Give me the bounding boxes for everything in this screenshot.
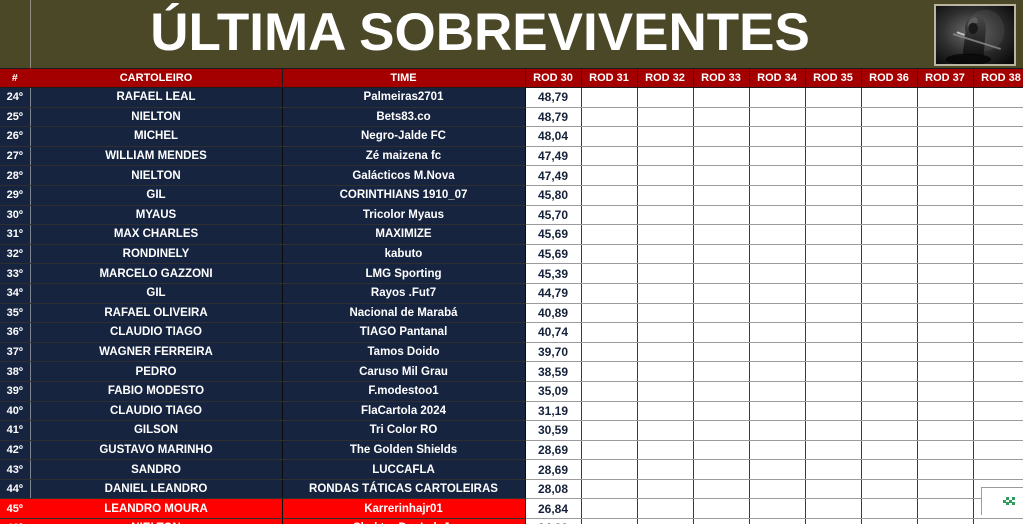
- cell-rod-35[interactable]: [805, 479, 861, 499]
- cell-rod-32[interactable]: [637, 401, 693, 421]
- cell-cartoleiro: CLAUDIO TIAGO: [30, 401, 282, 421]
- table-row[interactable]: 39ºFABIO MODESTOF.modestoo135,09: [0, 381, 1023, 401]
- cell-rod-34[interactable]: [749, 519, 805, 524]
- column-header-rod-37[interactable]: ROD 37: [917, 69, 973, 88]
- cell-rod-33[interactable]: [693, 401, 749, 421]
- resize-grip-icon: [1003, 497, 1015, 505]
- cell-rod-30[interactable]: 31,19: [525, 401, 581, 421]
- cell-rod-31[interactable]: [581, 185, 637, 205]
- cell-rod-33[interactable]: [693, 499, 749, 519]
- cell-rod-36[interactable]: [861, 499, 917, 519]
- column-header-rod-32[interactable]: ROD 32: [637, 69, 693, 88]
- cell-cartoleiro: GIL: [30, 283, 282, 303]
- cell-rod-35[interactable]: [805, 499, 861, 519]
- cell-rod-33[interactable]: [693, 519, 749, 524]
- cell-rod-31[interactable]: [581, 264, 637, 284]
- cell-rod-34[interactable]: [749, 146, 805, 166]
- cell-rod-30[interactable]: 47,49: [525, 166, 581, 186]
- cell-time: FlaCartola 2024: [282, 401, 525, 421]
- column-header-rod-34[interactable]: ROD 34: [749, 69, 805, 88]
- cell-rod-31[interactable]: [581, 225, 637, 245]
- cell-rank: 28º: [0, 166, 30, 186]
- table-row[interactable]: 32ºRONDINELYkabuto45,69: [0, 244, 1023, 264]
- cell-rod-37[interactable]: [917, 421, 973, 441]
- table-row[interactable]: 42ºGUSTAVO MARINHOThe Golden Shields28,6…: [0, 440, 1023, 460]
- cell-rod-35[interactable]: [805, 421, 861, 441]
- cell-cartoleiro: RAFAEL OLIVEIRA: [30, 303, 282, 323]
- cell-rod-30[interactable]: 30,59: [525, 421, 581, 441]
- cell-rod-34[interactable]: [749, 342, 805, 362]
- cell-rod-35[interactable]: [805, 205, 861, 225]
- column-header-rod-33[interactable]: ROD 33: [693, 69, 749, 88]
- cell-rod-35[interactable]: [805, 519, 861, 524]
- cell-rod-30[interactable]: 45,69: [525, 225, 581, 245]
- cell-rod-34[interactable]: [749, 166, 805, 186]
- cell-time: Tamos Doido: [282, 342, 525, 362]
- table-row[interactable]: 26ºMICHELNegro-Jalde FC48,04: [0, 127, 1023, 147]
- cell-rank: 24º: [0, 88, 30, 108]
- cell-rod-38[interactable]: [973, 205, 1023, 225]
- cell-rod-31[interactable]: [581, 146, 637, 166]
- cell-rod-36[interactable]: [861, 244, 917, 264]
- cell-rod-32[interactable]: [637, 519, 693, 524]
- cell-rod-37[interactable]: [917, 440, 973, 460]
- cell-rod-36[interactable]: [861, 479, 917, 499]
- cell-rod-36[interactable]: [861, 107, 917, 127]
- cell-rod-32[interactable]: [637, 166, 693, 186]
- cell-rod-35[interactable]: [805, 323, 861, 343]
- cell-rod-35[interactable]: [805, 283, 861, 303]
- cell-rod-38[interactable]: [973, 323, 1023, 343]
- cell-rank: 39º: [0, 381, 30, 401]
- cell-rod-31[interactable]: [581, 519, 637, 524]
- cell-rod-34[interactable]: [749, 381, 805, 401]
- cell-rod-34[interactable]: [749, 323, 805, 343]
- column-header-rod-35[interactable]: ROD 35: [805, 69, 861, 88]
- cell-rod-35[interactable]: [805, 146, 861, 166]
- cell-rank: 43º: [0, 460, 30, 480]
- cell-rod-37[interactable]: [917, 362, 973, 382]
- cell-rod-37[interactable]: [917, 342, 973, 362]
- cell-rod-30[interactable]: 45,70: [525, 205, 581, 225]
- cell-rank: 42º: [0, 440, 30, 460]
- cell-cartoleiro: RONDINELY: [30, 244, 282, 264]
- cell-rod-36[interactable]: [861, 519, 917, 524]
- cell-cartoleiro: WAGNER FERREIRA: [30, 342, 282, 362]
- table-row[interactable]: 40ºCLAUDIO TIAGOFlaCartola 202431,19: [0, 401, 1023, 421]
- cell-rod-35[interactable]: [805, 185, 861, 205]
- cell-rod-38[interactable]: [973, 225, 1023, 245]
- cell-cartoleiro: SANDRO: [30, 460, 282, 480]
- cell-rod-30[interactable]: 38,59: [525, 362, 581, 382]
- cell-rod-32[interactable]: [637, 88, 693, 108]
- cell-rod-31[interactable]: [581, 303, 637, 323]
- cell-rod-37[interactable]: [917, 107, 973, 127]
- cell-rod-30[interactable]: 45,69: [525, 244, 581, 264]
- cell-rod-38[interactable]: [973, 303, 1023, 323]
- table-row[interactable]: 27ºWILLIAM MENDESZé maizena fc47,49: [0, 146, 1023, 166]
- cell-rod-32[interactable]: [637, 460, 693, 480]
- cell-time: Nacional de Marabá: [282, 303, 525, 323]
- cell-rod-35[interactable]: [805, 127, 861, 147]
- cell-rod-32[interactable]: [637, 205, 693, 225]
- cell-rod-37[interactable]: [917, 166, 973, 186]
- cell-rod-36[interactable]: [861, 205, 917, 225]
- cell-rod-36[interactable]: [861, 166, 917, 186]
- cell-time: MAXIMIZE: [282, 225, 525, 245]
- table-row[interactable]: 37ºWAGNER FERREIRATamos Doido39,70: [0, 342, 1023, 362]
- cell-rod-36[interactable]: [861, 381, 917, 401]
- cell-rod-36[interactable]: [861, 225, 917, 245]
- cell-rod-34[interactable]: [749, 499, 805, 519]
- cell-time: Rayos .Fut7: [282, 283, 525, 303]
- cell-rod-35[interactable]: [805, 303, 861, 323]
- table-row[interactable]: 41ºGILSONTri Color RO30,59: [0, 421, 1023, 441]
- cell-rod-32[interactable]: [637, 146, 693, 166]
- cell-rod-31[interactable]: [581, 205, 637, 225]
- cell-rod-33[interactable]: [693, 460, 749, 480]
- cell-rod-37[interactable]: [917, 205, 973, 225]
- page-title: ÚLTIMA SOBREVIVENTES: [30, 0, 930, 68]
- table-row[interactable]: 38ºPEDROCaruso Mil Grau38,59: [0, 362, 1023, 382]
- cell-rod-31[interactable]: [581, 323, 637, 343]
- cell-rod-36[interactable]: [861, 460, 917, 480]
- cell-rod-36[interactable]: [861, 342, 917, 362]
- cell-rod-33[interactable]: [693, 146, 749, 166]
- cell-rod-30[interactable]: 48,79: [525, 88, 581, 108]
- cell-time: F.modestoo1: [282, 381, 525, 401]
- cell-rank: 26º: [0, 127, 30, 147]
- cell-rod-38[interactable]: [973, 519, 1023, 524]
- cell-rod-32[interactable]: [637, 421, 693, 441]
- cell-rank: 33º: [0, 264, 30, 284]
- table-row[interactable]: 31ºMAX CHARLESMAXIMIZE45,69: [0, 225, 1023, 245]
- cell-rod-37[interactable]: [917, 381, 973, 401]
- cell-rod-38[interactable]: [973, 362, 1023, 382]
- cell-rod-38[interactable]: [973, 440, 1023, 460]
- table-row[interactable]: 29ºGILCORINTHIANS 1910_0745,80: [0, 185, 1023, 205]
- cell-rod-34[interactable]: [749, 440, 805, 460]
- cell-rod-30[interactable]: 40,74: [525, 323, 581, 343]
- cell-rod-37[interactable]: [917, 185, 973, 205]
- cell-rod-37[interactable]: [917, 88, 973, 108]
- cell-rod-38[interactable]: [973, 127, 1023, 147]
- cell-rod-37[interactable]: [917, 225, 973, 245]
- column-header-team[interactable]: TIME: [282, 69, 525, 88]
- cell-rod-30[interactable]: 48,04: [525, 127, 581, 147]
- cell-rod-34[interactable]: [749, 421, 805, 441]
- cell-rod-37[interactable]: [917, 460, 973, 480]
- table-row[interactable]: 43ºSANDROLUCCAFLA28,69: [0, 460, 1023, 480]
- cell-rod-30[interactable]: 39,70: [525, 342, 581, 362]
- cell-time: Shaktar DusLek Jr: [282, 519, 525, 524]
- cell-rod-38[interactable]: [973, 283, 1023, 303]
- cell-rod-37[interactable]: [917, 479, 973, 499]
- cell-rod-30[interactable]: 48,79: [525, 107, 581, 127]
- cell-rod-37[interactable]: [917, 323, 973, 343]
- cell-rod-35[interactable]: [805, 362, 861, 382]
- cell-cartoleiro: LEANDRO MOURA: [30, 499, 282, 519]
- cell-rod-37[interactable]: [917, 283, 973, 303]
- cell-rod-32[interactable]: [637, 342, 693, 362]
- cell-rod-34[interactable]: [749, 362, 805, 382]
- cell-rod-31[interactable]: [581, 166, 637, 186]
- cell-time: RONDAS TÁTICAS CARTOLEIRAS: [282, 479, 525, 499]
- cell-rod-33[interactable]: [693, 381, 749, 401]
- cell-rank: 38º: [0, 362, 30, 382]
- cell-rod-36[interactable]: [861, 421, 917, 441]
- cell-rod-38[interactable]: [973, 185, 1023, 205]
- cell-rod-30[interactable]: 35,09: [525, 381, 581, 401]
- column-header-name[interactable]: CARTOLEIRO: [30, 69, 282, 88]
- cell-rod-32[interactable]: [637, 264, 693, 284]
- column-header-rod-31[interactable]: ROD 31: [581, 69, 637, 88]
- cell-rank: 44º: [0, 479, 30, 499]
- cell-rod-33[interactable]: [693, 205, 749, 225]
- ranking-table: # CARTOLEIRO TIME ROD 30 ROD 31 ROD 32 R…: [0, 68, 1023, 524]
- cell-rod-37[interactable]: [917, 264, 973, 284]
- cell-rod-32[interactable]: [637, 381, 693, 401]
- cell-rod-38[interactable]: [973, 107, 1023, 127]
- cell-cartoleiro: DANIEL LEANDRO: [30, 479, 282, 499]
- cell-rod-33[interactable]: [693, 264, 749, 284]
- cell-rod-34[interactable]: [749, 107, 805, 127]
- cell-rank: 46º: [0, 519, 30, 524]
- cell-rod-30[interactable]: 28,69: [525, 460, 581, 480]
- table-body: 24ºRAFAEL LEALPalmeiras270148,7925ºNIELT…: [0, 88, 1023, 524]
- cell-rod-36[interactable]: [861, 440, 917, 460]
- cell-rod-38[interactable]: [973, 264, 1023, 284]
- cell-rod-31[interactable]: [581, 107, 637, 127]
- cell-time: Tri Color RO: [282, 421, 525, 441]
- cell-time: kabuto: [282, 244, 525, 264]
- cell-rod-35[interactable]: [805, 460, 861, 480]
- cell-rod-38[interactable]: [973, 460, 1023, 480]
- cell-rod-33[interactable]: [693, 362, 749, 382]
- cell-rod-38[interactable]: [973, 401, 1023, 421]
- cell-time: Bets83.co: [282, 107, 525, 127]
- cell-rod-34[interactable]: [749, 185, 805, 205]
- cell-rod-31[interactable]: [581, 362, 637, 382]
- cell-cartoleiro: MAX CHARLES: [30, 225, 282, 245]
- cell-rod-36[interactable]: [861, 264, 917, 284]
- cell-rod-31[interactable]: [581, 283, 637, 303]
- cell-rod-35[interactable]: [805, 440, 861, 460]
- cell-rod-32[interactable]: [637, 323, 693, 343]
- table-row[interactable]: 45ºLEANDRO MOURAKarrerinhajr0126,84: [0, 499, 1023, 519]
- cell-rod-33[interactable]: [693, 127, 749, 147]
- cell-rod-31[interactable]: [581, 342, 637, 362]
- cell-rod-31[interactable]: [581, 244, 637, 264]
- cell-time: LUCCAFLA: [282, 460, 525, 480]
- cell-rod-33[interactable]: [693, 107, 749, 127]
- table-row[interactable]: 24ºRAFAEL LEALPalmeiras270148,79: [0, 88, 1023, 108]
- cell-rod-32[interactable]: [637, 440, 693, 460]
- cell-rod-35[interactable]: [805, 244, 861, 264]
- table-row[interactable]: 35ºRAFAEL OLIVEIRANacional de Marabá40,8…: [0, 303, 1023, 323]
- cell-rod-38[interactable]: [973, 421, 1023, 441]
- cell-time: Tricolor Myaus: [282, 205, 525, 225]
- table-row[interactable]: 33ºMARCELO GAZZONILMG Sporting45,39: [0, 264, 1023, 284]
- table-row[interactable]: 28ºNIELTONGalácticos M.Nova47,49: [0, 166, 1023, 186]
- cell-rod-34[interactable]: [749, 205, 805, 225]
- cell-rod-38[interactable]: [973, 146, 1023, 166]
- cell-rod-38[interactable]: [973, 166, 1023, 186]
- cell-rod-30[interactable]: 24,89: [525, 519, 581, 524]
- cell-time: LMG Sporting: [282, 264, 525, 284]
- cell-rod-38[interactable]: [973, 88, 1023, 108]
- cell-cartoleiro: NIELTON: [30, 107, 282, 127]
- column-header-rod-36[interactable]: ROD 36: [861, 69, 917, 88]
- cell-rod-34[interactable]: [749, 88, 805, 108]
- cell-rod-31[interactable]: [581, 499, 637, 519]
- cell-cartoleiro: CLAUDIO TIAGO: [30, 323, 282, 343]
- cell-rod-30[interactable]: 26,84: [525, 499, 581, 519]
- cell-rod-35[interactable]: [805, 381, 861, 401]
- column-header-rod-38[interactable]: ROD 38: [973, 69, 1023, 88]
- cell-rod-36[interactable]: [861, 185, 917, 205]
- cell-rod-30[interactable]: 28,69: [525, 440, 581, 460]
- cell-rod-33[interactable]: [693, 479, 749, 499]
- cell-rod-37[interactable]: [917, 146, 973, 166]
- cell-rod-31[interactable]: [581, 381, 637, 401]
- cell-cartoleiro: MYAUS: [30, 205, 282, 225]
- cell-rod-36[interactable]: [861, 88, 917, 108]
- spreadsheet-view: ÚLTIMA SOBREVIVENTES: [0, 0, 1023, 524]
- cell-rank: 29º: [0, 185, 30, 205]
- cell-rod-31[interactable]: [581, 421, 637, 441]
- cell-rod-33[interactable]: [693, 88, 749, 108]
- cell-rod-34[interactable]: [749, 127, 805, 147]
- cell-rod-33[interactable]: [693, 244, 749, 264]
- cell-rod-30[interactable]: 47,49: [525, 146, 581, 166]
- table-row[interactable]: 25ºNIELTONBets83.co48,79: [0, 107, 1023, 127]
- cell-rod-38[interactable]: [973, 244, 1023, 264]
- cell-rod-33[interactable]: [693, 440, 749, 460]
- cell-cartoleiro: GUSTAVO MARINHO: [30, 440, 282, 460]
- cell-rod-33[interactable]: [693, 185, 749, 205]
- cell-rank: 34º: [0, 283, 30, 303]
- cell-rod-37[interactable]: [917, 244, 973, 264]
- cell-time: Karrerinhajr01: [282, 499, 525, 519]
- cell-cartoleiro: GILSON: [30, 421, 282, 441]
- cell-rod-31[interactable]: [581, 401, 637, 421]
- cell-rod-36[interactable]: [861, 283, 917, 303]
- cell-rank: 35º: [0, 303, 30, 323]
- cell-rod-31[interactable]: [581, 479, 637, 499]
- table-row[interactable]: 30ºMYAUSTricolor Myaus45,70: [0, 205, 1023, 225]
- cell-rod-34[interactable]: [749, 460, 805, 480]
- cell-rod-30[interactable]: 45,39: [525, 264, 581, 284]
- cell-rod-36[interactable]: [861, 401, 917, 421]
- cell-rod-36[interactable]: [861, 146, 917, 166]
- cell-time: Negro-Jalde FC: [282, 127, 525, 147]
- cell-cartoleiro: NIELTON: [30, 519, 282, 524]
- cell-rod-32[interactable]: [637, 303, 693, 323]
- cell-rod-35[interactable]: [805, 225, 861, 245]
- scroll-corner-marker[interactable]: [981, 487, 1023, 515]
- cell-rod-37[interactable]: [917, 401, 973, 421]
- cell-rod-33[interactable]: [693, 283, 749, 303]
- cell-rod-31[interactable]: [581, 440, 637, 460]
- table-row[interactable]: 34ºGILRayos .Fut744,79: [0, 283, 1023, 303]
- cell-rod-33[interactable]: [693, 421, 749, 441]
- cell-rod-35[interactable]: [805, 166, 861, 186]
- cell-rank: 27º: [0, 146, 30, 166]
- cell-rod-31[interactable]: [581, 127, 637, 147]
- cell-rank: 30º: [0, 205, 30, 225]
- cell-rod-33[interactable]: [693, 166, 749, 186]
- cell-rod-35[interactable]: [805, 264, 861, 284]
- cell-rod-32[interactable]: [637, 107, 693, 127]
- cell-cartoleiro: RAFAEL LEAL: [30, 88, 282, 108]
- cell-rank: 36º: [0, 323, 30, 343]
- cell-rod-38[interactable]: [973, 342, 1023, 362]
- cell-time: Galácticos M.Nova: [282, 166, 525, 186]
- cell-rod-33[interactable]: [693, 225, 749, 245]
- cell-rod-35[interactable]: [805, 401, 861, 421]
- cell-rod-33[interactable]: [693, 303, 749, 323]
- cell-rod-31[interactable]: [581, 460, 637, 480]
- cell-rod-35[interactable]: [805, 342, 861, 362]
- cell-rod-34[interactable]: [749, 283, 805, 303]
- cell-rod-32[interactable]: [637, 362, 693, 382]
- table-row[interactable]: 36ºCLAUDIO TIAGOTIAGO Pantanal40,74: [0, 323, 1023, 343]
- cell-rod-34[interactable]: [749, 479, 805, 499]
- cell-rod-32[interactable]: [637, 225, 693, 245]
- cell-rank: 25º: [0, 107, 30, 127]
- cell-rod-33[interactable]: [693, 342, 749, 362]
- cell-cartoleiro: MARCELO GAZZONI: [30, 264, 282, 284]
- cell-time: TIAGO Pantanal: [282, 323, 525, 343]
- cell-rod-37[interactable]: [917, 127, 973, 147]
- cell-rod-30[interactable]: 28,08: [525, 479, 581, 499]
- cell-rod-32[interactable]: [637, 244, 693, 264]
- cell-rod-35[interactable]: [805, 88, 861, 108]
- cell-rod-34[interactable]: [749, 225, 805, 245]
- cell-rod-36[interactable]: [861, 303, 917, 323]
- table-row[interactable]: 46ºNIELTONShaktar DusLek Jr24,89: [0, 519, 1023, 524]
- cell-rod-31[interactable]: [581, 88, 637, 108]
- cell-rod-37[interactable]: [917, 519, 973, 524]
- column-header-rank[interactable]: #: [0, 69, 30, 88]
- cell-rod-35[interactable]: [805, 107, 861, 127]
- cell-rod-38[interactable]: [973, 381, 1023, 401]
- cell-rod-34[interactable]: [749, 264, 805, 284]
- cell-rod-32[interactable]: [637, 499, 693, 519]
- cell-rod-32[interactable]: [637, 127, 693, 147]
- cell-rod-34[interactable]: [749, 303, 805, 323]
- cell-rod-30[interactable]: 44,79: [525, 283, 581, 303]
- cell-rank: 37º: [0, 342, 30, 362]
- cell-rod-30[interactable]: 45,80: [525, 185, 581, 205]
- cell-rod-34[interactable]: [749, 401, 805, 421]
- table-row[interactable]: 44ºDANIEL LEANDRORONDAS TÁTICAS CARTOLEI…: [0, 479, 1023, 499]
- cell-rod-33[interactable]: [693, 323, 749, 343]
- cell-rod-36[interactable]: [861, 323, 917, 343]
- cell-rod-32[interactable]: [637, 185, 693, 205]
- cell-rod-32[interactable]: [637, 283, 693, 303]
- cell-rod-36[interactable]: [861, 362, 917, 382]
- column-header-rod-30[interactable]: ROD 30: [525, 69, 581, 88]
- cell-time: Zé maizena fc: [282, 146, 525, 166]
- cell-rod-32[interactable]: [637, 479, 693, 499]
- cell-rod-36[interactable]: [861, 127, 917, 147]
- cell-rod-30[interactable]: 40,89: [525, 303, 581, 323]
- cell-rod-34[interactable]: [749, 244, 805, 264]
- cell-rod-37[interactable]: [917, 499, 973, 519]
- cell-rod-37[interactable]: [917, 303, 973, 323]
